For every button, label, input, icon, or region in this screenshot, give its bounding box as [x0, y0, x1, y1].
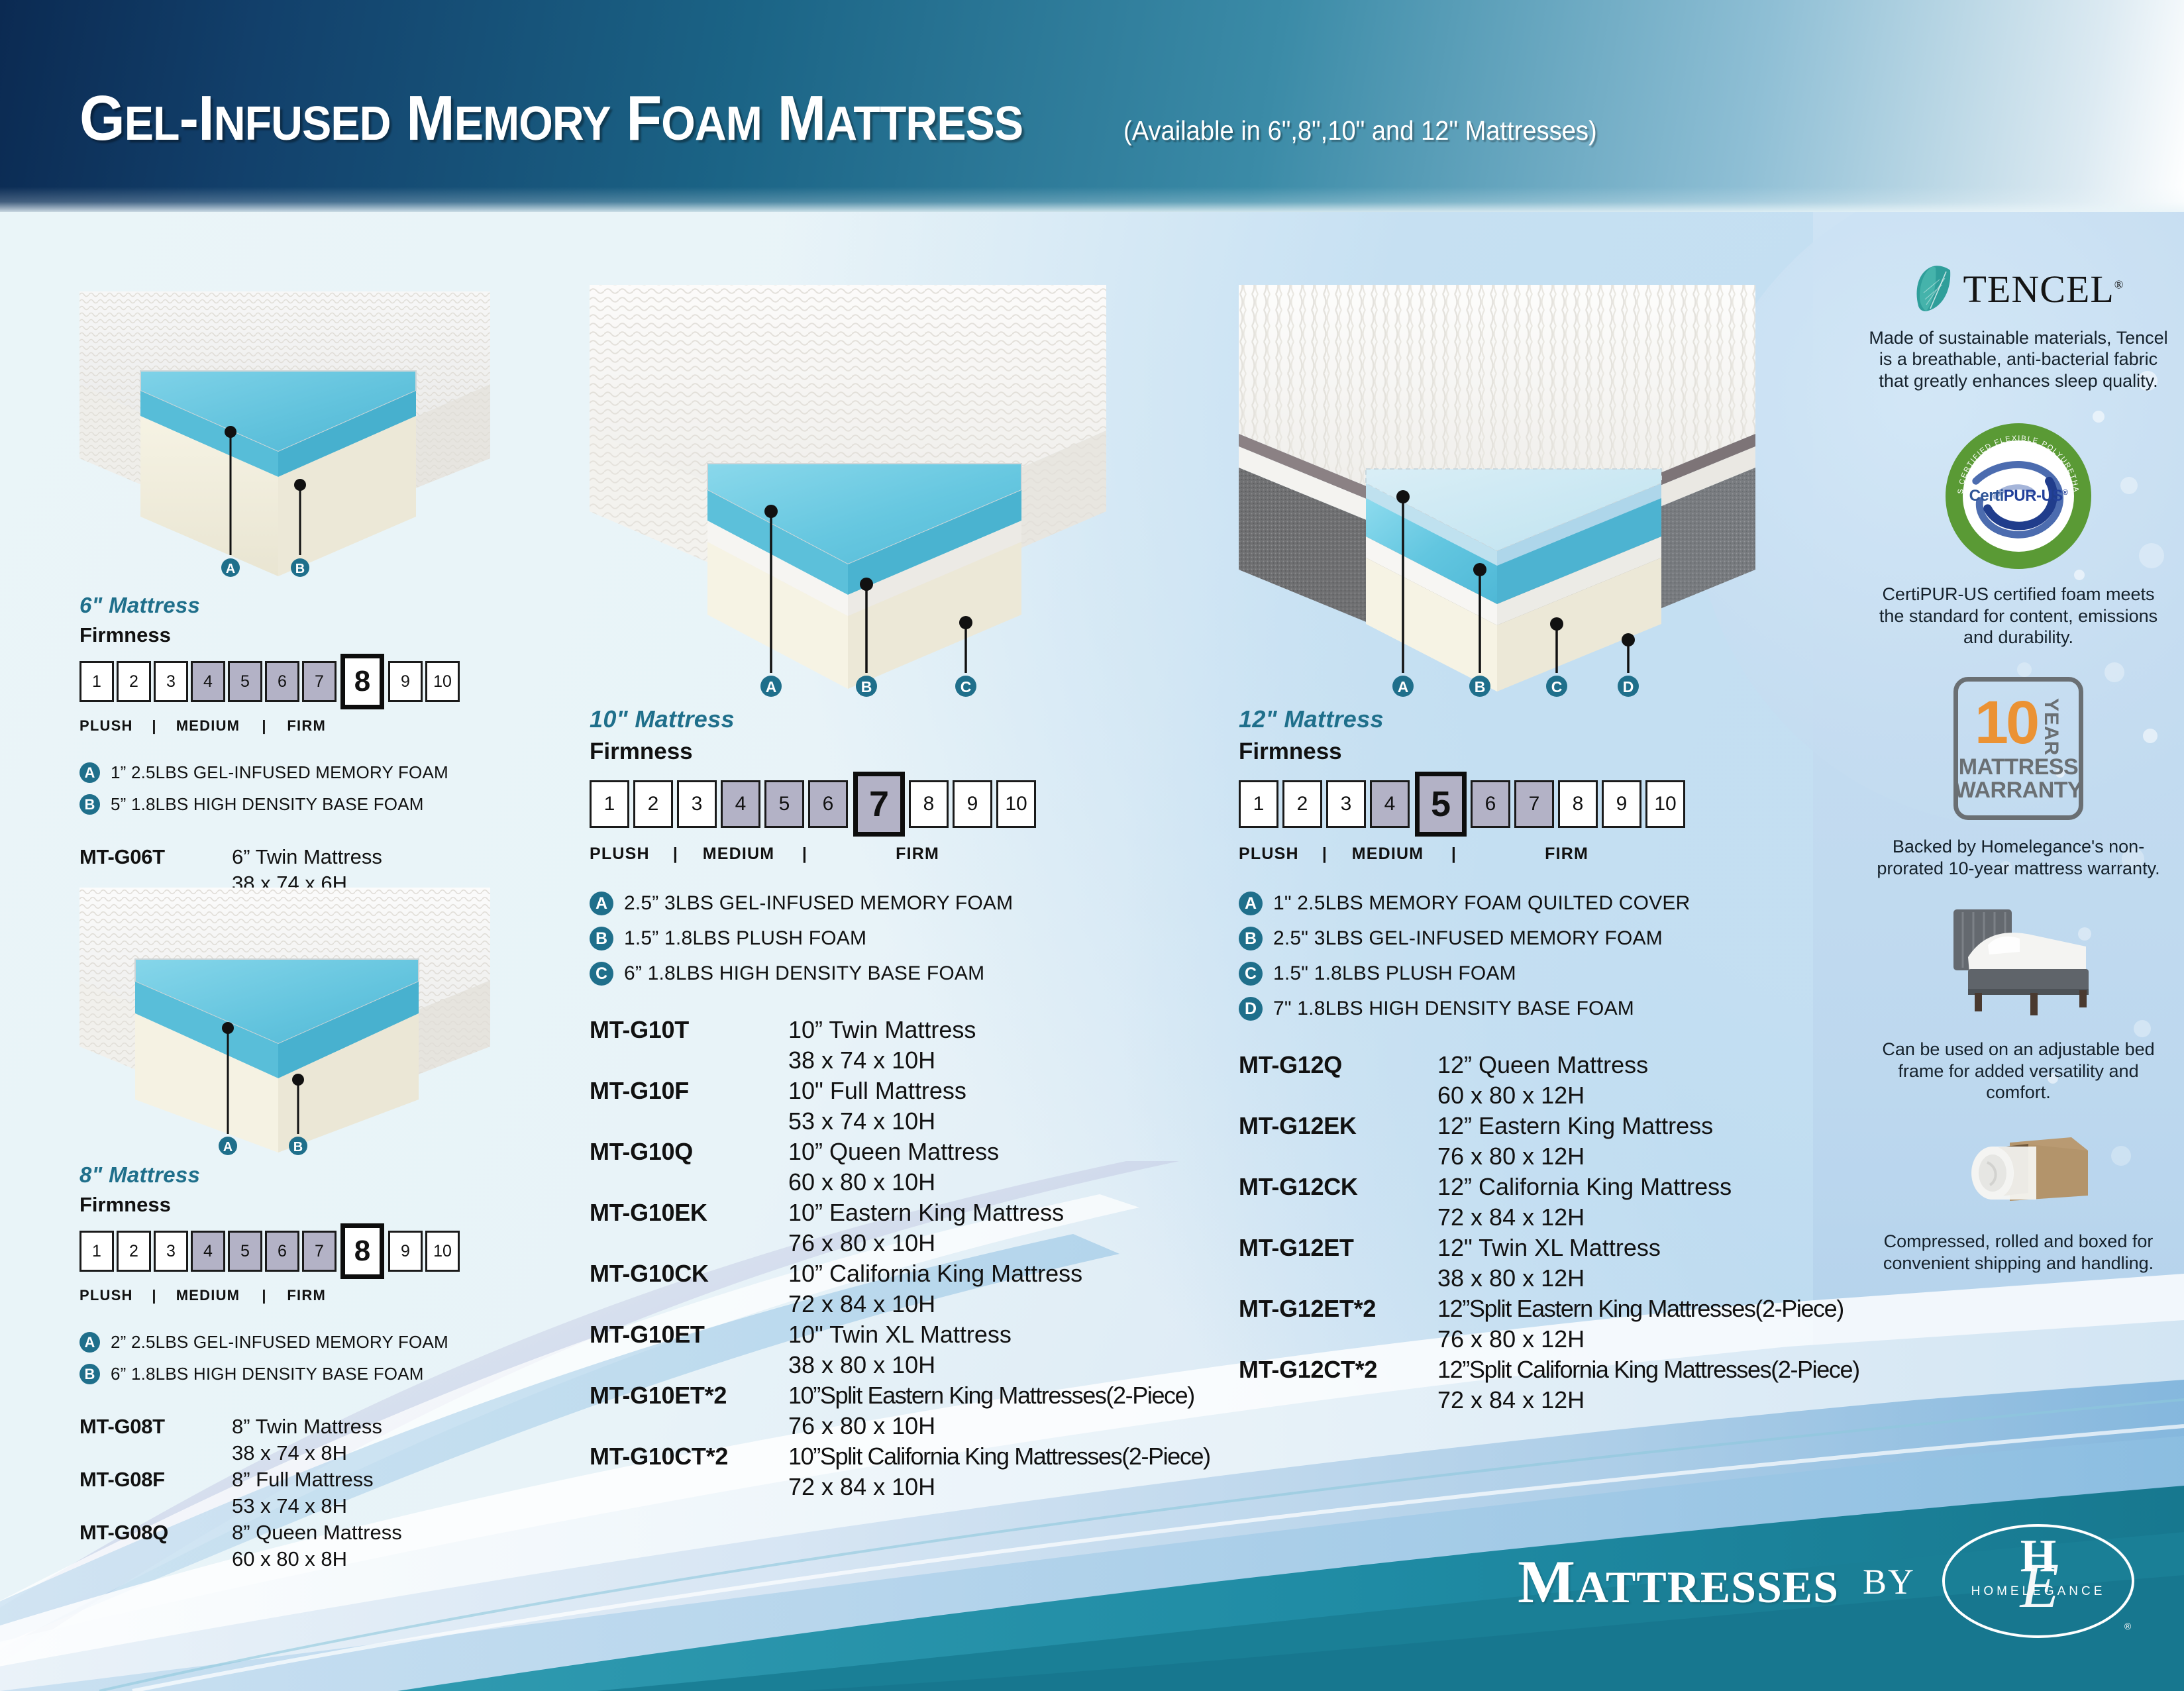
firmness-box-3[interactable]: 3 [154, 1231, 188, 1272]
layer-row: D7" 1.8LBS HIGH DENSITY BASE FOAM [1239, 997, 1875, 1021]
firmness-box-2[interactable]: 2 [117, 1231, 151, 1272]
product-dimensions-row: 72 x 84 x 12H [1239, 1204, 1875, 1231]
ruler-firm-10: FIRM [831, 845, 939, 864]
firmness-box-6[interactable]: 6 [265, 661, 299, 702]
product-dimensions: 38 x 80 x 12H [1437, 1264, 1585, 1292]
product-row: MT-G12ET12" Twin XL Mattress [1239, 1234, 1875, 1262]
svg-text:B: B [1475, 678, 1486, 695]
product-description: 10" Full Mattress [788, 1077, 966, 1105]
ruler-plush-6: PLUSH [79, 717, 135, 735]
product-list-8: MT-G08T8” Twin Mattress38 x 74 x 8HMT-G0… [79, 1415, 543, 1571]
product-description: 12” Eastern King Mattress [1437, 1112, 1713, 1140]
layer-description: 2” 2.5LBS GEL-INFUSED MEMORY FOAM [111, 1332, 448, 1353]
firmness-heading-10: Firmness [590, 739, 1225, 765]
section-label-6: 6" Mattress [79, 593, 543, 618]
product-dimensions: 76 x 80 x 10H [788, 1412, 935, 1440]
spacer [590, 1107, 788, 1135]
column-10-inch: A B C 10" Mattress Firmness 12345678910 … [590, 278, 1225, 1504]
layer-badge-a: A [1239, 892, 1263, 915]
product-sku: MT-G08Q [79, 1521, 232, 1545]
product-row: MT-G10CK10” California King Mattress [590, 1260, 1225, 1288]
adjustable-bed-block: Can be used on an adjustable bed frame f… [1869, 901, 2168, 1103]
section-label-8: 8" Mattress [79, 1162, 543, 1188]
firmness-ruler-6: PLUSH | MEDIUM | FIRM [79, 717, 543, 735]
product-description: 10” Eastern King Mattress [788, 1199, 1064, 1227]
firmness-scale-10[interactable]: 12345678910 [590, 772, 1225, 837]
callout-A: A [219, 1137, 237, 1155]
firmness-box-8[interactable]: 8 [340, 1223, 384, 1279]
layer-description: 2.5" 3LBS GEL-INFUSED MEMORY FOAM [1273, 927, 1663, 950]
product-sku: MT-G08T [79, 1415, 232, 1439]
svg-text:D: D [1623, 678, 1634, 695]
product-sku: MT-G12CT*2 [1239, 1356, 1437, 1384]
ruler-medium-10: MEDIUM [698, 845, 779, 864]
product-row: MT-G12ET*212”Split Eastern King Mattress… [1239, 1295, 1875, 1323]
firmness-ruler-8: PLUSH | MEDIUM | FIRM [79, 1287, 543, 1304]
layer-badge-c: C [590, 962, 613, 986]
spacer [79, 1494, 232, 1518]
svg-text:A: A [226, 562, 235, 576]
product-dimensions: 60 x 80 x 8H [232, 1547, 347, 1571]
product-dimensions: 72 x 84 x 12H [1437, 1386, 1585, 1414]
footer-logo: MATTRESSES BY H E HOMELEGANCE ® [1518, 1523, 2138, 1639]
product-sku: MT-G12ET*2 [1239, 1295, 1437, 1323]
spacer [79, 1441, 232, 1465]
layer-row: B1.5” 1.8LBS PLUSH FOAM [590, 927, 1225, 950]
product-dimensions: 53 x 74 x 8H [232, 1494, 347, 1518]
product-description: 10”Split Eastern King Mattresses(2-Piece… [788, 1382, 1194, 1409]
product-dimensions-row: 76 x 80 x 12H [1239, 1143, 1875, 1170]
registered-mark: ® [2114, 278, 2124, 291]
logo-wordmark: HOMELEGANCE [1971, 1584, 2106, 1598]
layer-row: B2.5" 3LBS GEL-INFUSED MEMORY FOAM [1239, 927, 1875, 950]
firmness-box-1[interactable]: 1 [590, 780, 629, 828]
product-dimensions: 60 x 80 x 10H [788, 1168, 935, 1196]
ruler-plush-12: PLUSH [1239, 845, 1302, 864]
product-dimensions-row: 53 x 74 x 8H [79, 1494, 543, 1518]
product-row: MT-G12EK12” Eastern King Mattress [1239, 1112, 1875, 1140]
layer-badge-c: C [1239, 962, 1263, 986]
product-dimensions-row: 76 x 80 x 10H [590, 1412, 1225, 1440]
warranty-line-1: MATTRESS [1959, 756, 2078, 779]
layer-badge-b: B [79, 794, 100, 815]
ruler-medium-12: MEDIUM [1347, 845, 1428, 864]
product-list-10: MT-G10T10” Twin Mattress38 x 74 x 10HMT-… [590, 1016, 1225, 1501]
product-dimensions: 72 x 84 x 10H [788, 1473, 935, 1501]
product-description: 12” Queen Mattress [1437, 1051, 1648, 1079]
ruler-firm-8: FIRM [286, 1287, 326, 1304]
product-dimensions-row: 38 x 74 x 10H [590, 1047, 1225, 1074]
product-description: 8” Queen Mattress [232, 1521, 402, 1545]
firmness-heading-12: Firmness [1239, 739, 1875, 765]
layer-description: 5” 1.8LBS HIGH DENSITY BASE FOAM [111, 794, 424, 815]
product-sku: MT-G10T [590, 1016, 788, 1044]
layer-description: 6” 1.8LBS HIGH DENSITY BASE FOAM [111, 1364, 424, 1384]
firmness-box-8[interactable]: 8 [340, 654, 384, 709]
product-sku: MT-G10F [590, 1077, 788, 1105]
product-row: MT-G12CT*212”Split California King Mattr… [1239, 1356, 1875, 1384]
warranty-years: 10 [1975, 695, 2037, 750]
callout-A: A [1392, 676, 1414, 697]
product-description: 8” Twin Mattress [232, 1415, 382, 1439]
firmness-box-5[interactable]: 5 [764, 780, 804, 828]
product-dimensions-row: 76 x 80 x 10H [590, 1229, 1225, 1257]
callout-D: D [1618, 676, 1639, 697]
layer-badge-b: B [79, 1364, 100, 1384]
firmness-box-7[interactable]: 7 [853, 772, 905, 837]
layer-row: C6” 1.8LBS HIGH DENSITY BASE FOAM [590, 962, 1225, 986]
svg-text:A: A [1398, 678, 1409, 695]
product-description: 10”Split California King Mattresses(2-Pi… [788, 1443, 1210, 1470]
spacer [590, 1351, 788, 1379]
product-sku: MT-G10ET [590, 1321, 788, 1349]
firmness-box-5[interactable]: 5 [1415, 772, 1467, 837]
spacer [590, 1229, 788, 1257]
product-row: MT-G10Q10” Queen Mattress [590, 1138, 1225, 1166]
product-dimensions-row: 72 x 84 x 10H [590, 1290, 1225, 1318]
mattress-12-cutaway-image: A B C D [1239, 278, 1755, 702]
spacer [1239, 1143, 1437, 1170]
product-sku: MT-G10Q [590, 1138, 788, 1166]
product-row: MT-G10T10” Twin Mattress [590, 1016, 1225, 1044]
firmness-box-5[interactable]: 5 [228, 661, 262, 702]
product-description: 12”Split California King Mattresses(2-Pi… [1437, 1356, 1859, 1384]
warranty-block: 10 YEAR MATTRESS WARRANTY Backed by Home… [1869, 670, 2168, 879]
warranty-year-word: YEAR [2040, 698, 2062, 756]
product-description: 6” Twin Mattress [232, 845, 382, 869]
adjustable-bed-caption: Can be used on an adjustable bed frame f… [1869, 1039, 2168, 1103]
spacer [590, 1473, 788, 1501]
spacer [590, 1047, 788, 1074]
product-sku: MT-G10ET*2 [590, 1382, 788, 1409]
product-sku: MT-G06T [79, 845, 232, 869]
firmness-box-2[interactable]: 2 [1282, 780, 1322, 828]
layer-legend-8: A2” 2.5LBS GEL-INFUSED MEMORY FOAMB6” 1.… [79, 1332, 543, 1384]
ruler-plush-8: PLUSH [79, 1287, 135, 1304]
firmness-ruler-10: PLUSH | MEDIUM | FIRM [590, 845, 1225, 864]
layer-description: 6” 1.8LBS HIGH DENSITY BASE FOAM [624, 962, 984, 985]
product-description: 10" Twin XL Mattress [788, 1321, 1012, 1349]
callout-B: B [856, 676, 877, 697]
firmness-box-4[interactable]: 4 [191, 1231, 225, 1272]
product-dimensions: 76 x 80 x 12H [1437, 1325, 1585, 1353]
firmness-box-9[interactable]: 9 [388, 1231, 423, 1272]
firmness-box-3[interactable]: 3 [1326, 780, 1366, 828]
firmness-box-2[interactable]: 2 [633, 780, 673, 828]
firmness-box-4[interactable]: 4 [191, 661, 225, 702]
layer-row: C1.5" 1.8LBS PLUSH FOAM [1239, 962, 1875, 986]
boxed-caption: Compressed, rolled and boxed for conveni… [1869, 1231, 2168, 1274]
product-sku: MT-G12EK [1239, 1112, 1437, 1140]
product-sku: MT-G12Q [1239, 1051, 1437, 1079]
firmness-box-10[interactable]: 10 [1645, 780, 1685, 828]
firmness-box-10[interactable]: 10 [996, 780, 1036, 828]
firmness-box-10[interactable]: 10 [425, 1231, 460, 1272]
spacer [1239, 1386, 1437, 1414]
adjustable-bed-icon [1919, 905, 2118, 1025]
certipur-registered: ® [2063, 489, 2068, 497]
firmness-box-8[interactable]: 8 [1558, 780, 1598, 828]
firmness-box-10[interactable]: 10 [425, 661, 460, 702]
column-8-inch: A B 8" Mattress Firmness 12345678910 PLU… [79, 881, 543, 1574]
product-description: 10” Queen Mattress [788, 1138, 999, 1166]
firmness-box-7[interactable]: 7 [302, 1231, 337, 1272]
firmness-box-4[interactable]: 4 [721, 780, 760, 828]
page-subtitle: (Available in 6",8",10" and 12" Mattress… [1123, 115, 1597, 146]
product-dimensions-row: 72 x 84 x 10H [590, 1473, 1225, 1501]
firmness-scale-6[interactable]: 12345678910 [79, 654, 543, 709]
callout-B: B [291, 558, 309, 577]
product-row: MT-G08T8” Twin Mattress [79, 1415, 543, 1439]
layer-badge-d: D [1239, 997, 1263, 1021]
product-dimensions: 38 x 74 x 8H [232, 1441, 347, 1465]
product-description: 12" Twin XL Mattress [1437, 1234, 1661, 1262]
tencel-block: TENCEL® Made of sustainable materials, T… [1869, 265, 2168, 391]
product-dimensions: 38 x 74 x 10H [788, 1047, 935, 1074]
product-dimensions: 72 x 84 x 12H [1437, 1204, 1585, 1231]
layer-row: A1" 2.5LBS MEMORY FOAM QUILTED COVER [1239, 892, 1875, 915]
firmness-box-2[interactable]: 2 [117, 661, 151, 702]
product-dimensions-row: 60 x 80 x 12H [1239, 1082, 1875, 1109]
layer-legend-10: A2.5” 3LBS GEL-INFUSED MEMORY FOAMB1.5” … [590, 892, 1225, 986]
tencel-caption: Made of sustainable materials, Tencel is… [1869, 327, 2168, 391]
firmness-box-6[interactable]: 6 [1471, 780, 1510, 828]
product-description: 10” Twin Mattress [788, 1016, 976, 1044]
product-dimensions-row: 60 x 80 x 8H [79, 1547, 543, 1571]
product-dimensions: 76 x 80 x 12H [1437, 1143, 1585, 1170]
layer-row: A2” 2.5LBS GEL-INFUSED MEMORY FOAM [79, 1332, 543, 1353]
callout-B: B [1469, 676, 1490, 697]
firmness-heading-8: Firmness [79, 1193, 543, 1217]
mattress-8-cutaway-image: A B [79, 881, 490, 1159]
product-description: 8” Full Mattress [232, 1468, 374, 1492]
firmness-box-9[interactable]: 9 [1602, 780, 1641, 828]
firmness-scale-12[interactable]: 12345678910 [1239, 772, 1875, 837]
svg-text:A: A [223, 1140, 233, 1154]
firmness-scale-8[interactable]: 12345678910 [79, 1223, 543, 1279]
firmness-box-8[interactable]: 8 [909, 780, 949, 828]
product-row: MT-G06T6” Twin Mattress [79, 845, 543, 869]
product-dimensions-row: 76 x 80 x 12H [1239, 1325, 1875, 1353]
product-description: 12”Split Eastern King Mattresses(2-Piece… [1437, 1295, 1844, 1323]
firmness-box-1[interactable]: 1 [79, 1231, 114, 1272]
product-dimensions-row: 53 x 74 x 10H [590, 1107, 1225, 1135]
product-row: MT-G12CK12” California King Mattress [1239, 1173, 1875, 1201]
layer-badge-a: A [79, 762, 100, 783]
ruler-firm-6: FIRM [286, 717, 326, 735]
product-sku: MT-G12CK [1239, 1173, 1437, 1201]
firmness-box-3[interactable]: 3 [154, 661, 188, 702]
layer-badge-b: B [590, 927, 613, 950]
layer-badge-b: B [1239, 927, 1263, 950]
firmness-box-9[interactable]: 9 [388, 661, 423, 702]
product-sku: MT-G12ET [1239, 1234, 1437, 1262]
product-row: MT-G10F10" Full Mattress [590, 1077, 1225, 1105]
firmness-heading-6: Firmness [79, 623, 543, 647]
layer-description: 1" 2.5LBS MEMORY FOAM QUILTED COVER [1273, 892, 1690, 915]
callout-A: A [221, 558, 240, 577]
firmness-box-4[interactable]: 4 [1370, 780, 1410, 828]
product-row: MT-G08Q8” Queen Mattress [79, 1521, 543, 1545]
layer-badge-a: A [590, 892, 613, 915]
warranty-line-2: WARRANTY [1955, 779, 2082, 802]
layer-description: 1.5” 1.8LBS PLUSH FOAM [624, 927, 866, 950]
ruler-medium-8: MEDIUM [174, 1287, 242, 1304]
spacer [590, 1412, 788, 1440]
svg-text:C: C [961, 678, 972, 695]
ruler-medium-6: MEDIUM [174, 717, 242, 735]
section-label-12: 12" Mattress [1239, 705, 1875, 733]
product-dimensions: 72 x 84 x 10H [788, 1290, 935, 1318]
layer-legend-12: A1" 2.5LBS MEMORY FOAM QUILTED COVERB2.5… [1239, 892, 1875, 1021]
spacer [1239, 1264, 1437, 1292]
product-row: MT-G10ET10" Twin XL Mattress [590, 1321, 1225, 1349]
footer-by-word: BY [1863, 1561, 1915, 1602]
boxed-block: Compressed, rolled and boxed for conveni… [1869, 1125, 2168, 1274]
certipur-block: CONTAINS CERTIFIED FLEXIBLE POLYURETHANE… [1869, 414, 2168, 648]
firmness-box-7[interactable]: 7 [302, 661, 337, 702]
product-sku: MT-G08F [79, 1468, 232, 1492]
poster-canvas: GEL-INFUSED MEMORY FOAM MATTRESS (Availa… [0, 0, 2184, 1691]
mattress-6-cutaway-image: A B [79, 278, 490, 589]
product-row: MT-G12Q12” Queen Mattress [1239, 1051, 1875, 1079]
svg-text:B: B [293, 1140, 303, 1154]
callout-B: B [289, 1137, 307, 1155]
callout-A: A [760, 676, 782, 697]
svg-text:A: A [766, 678, 777, 695]
column-12-inch: A B C D 12" Mattress Firmness 1234567891… [1239, 278, 1875, 1417]
features-sidebar: TENCEL® Made of sustainable materials, T… [1853, 265, 2184, 1296]
firmness-box-6[interactable]: 6 [808, 780, 848, 828]
spacer [1239, 1082, 1437, 1109]
product-list-12: MT-G12Q12” Queen Mattress60 x 80 x 12HMT… [1239, 1051, 1875, 1414]
product-row: MT-G10CT*210”Split California King Mattr… [590, 1443, 1225, 1470]
svg-text:B: B [295, 562, 305, 576]
firmness-box-5[interactable]: 5 [228, 1231, 262, 1272]
spacer [590, 1290, 788, 1318]
page-title: GEL-INFUSED MEMORY FOAM MATTRESS [79, 82, 1023, 155]
warranty-badge-icon: 10 YEAR MATTRESS WARRANTY [1953, 677, 2083, 820]
spacer [590, 1168, 788, 1196]
layer-description: 1” 2.5LBS GEL-INFUSED MEMORY FOAM [111, 762, 448, 783]
product-description: 10” California King Mattress [788, 1260, 1082, 1288]
tencel-wordmark: TENCEL® [1963, 267, 2124, 311]
layer-row: A1” 2.5LBS GEL-INFUSED MEMORY FOAM [79, 762, 543, 783]
product-description: 12” California King Mattress [1437, 1173, 1732, 1201]
product-dimensions-row: 60 x 80 x 10H [590, 1168, 1225, 1196]
product-dimensions-row: 38 x 74 x 8H [79, 1441, 543, 1465]
logo-registered: ® [2124, 1621, 2132, 1631]
spacer [1239, 1204, 1437, 1231]
warranty-caption: Backed by Homelegance's non-prorated 10-… [1869, 836, 2168, 879]
certipur-caption: CertiPUR-US certified foam meets the sta… [1869, 584, 2168, 648]
layer-row: B6” 1.8LBS HIGH DENSITY BASE FOAM [79, 1364, 543, 1384]
layer-description: 1.5" 1.8LBS PLUSH FOAM [1273, 962, 1516, 985]
ruler-plush-10: PLUSH [590, 845, 653, 864]
product-dimensions: 53 x 74 x 10H [788, 1107, 935, 1135]
spacer [1239, 1325, 1437, 1353]
firmness-box-6[interactable]: 6 [265, 1231, 299, 1272]
layer-legend-6: A1” 2.5LBS GEL-INFUSED MEMORY FOAMB5” 1.… [79, 762, 543, 815]
mattress-10-cutaway-image: A B C [590, 278, 1106, 702]
firmness-box-9[interactable]: 9 [953, 780, 992, 828]
product-dimensions: 60 x 80 x 12H [1437, 1082, 1585, 1109]
product-dimensions-row: 38 x 80 x 12H [1239, 1264, 1875, 1292]
ruler-firm-12: FIRM [1480, 845, 1588, 864]
homelegance-logo-icon: H E HOMELEGANCE ® [1939, 1523, 2138, 1639]
product-sku: MT-G10CK [590, 1260, 788, 1288]
leaf-icon [1913, 265, 1954, 313]
product-dimensions: 76 x 80 x 10H [788, 1229, 935, 1257]
spacer [79, 1547, 232, 1571]
product-dimensions-row: 72 x 84 x 12H [1239, 1386, 1875, 1414]
column-6-inch: A B 6" Mattress Firmness 12345678910 PLU… [79, 278, 543, 951]
svg-text:B: B [861, 678, 872, 695]
firmness-box-7[interactable]: 7 [1514, 780, 1554, 828]
layer-row: A2.5” 3LBS GEL-INFUSED MEMORY FOAM [590, 892, 1225, 915]
footer-mattresses-word: MATTRESSES [1518, 1547, 1839, 1617]
certipur-seal-icon: CONTAINS CERTIFIED FLEXIBLE POLYURETHANE… [1946, 423, 2091, 569]
firmness-ruler-12: PLUSH | MEDIUM | FIRM [1239, 845, 1875, 864]
layer-description: 7" 1.8LBS HIGH DENSITY BASE FOAM [1273, 998, 1634, 1020]
section-label-10: 10" Mattress [590, 705, 1225, 733]
certipur-mark-certi: Certi [1969, 487, 2004, 505]
layer-description: 2.5” 3LBS GEL-INFUSED MEMORY FOAM [624, 892, 1013, 915]
product-row: MT-G08F8” Full Mattress [79, 1468, 543, 1492]
product-dimensions: 38 x 80 x 10H [788, 1351, 935, 1379]
product-row: MT-G10EK10” Eastern King Mattress [590, 1199, 1225, 1227]
rolled-mattress-box-icon [1936, 1132, 2101, 1218]
product-sku: MT-G10CT*2 [590, 1443, 788, 1470]
product-dimensions-row: 38 x 80 x 10H [590, 1351, 1225, 1379]
layer-badge-a: A [79, 1332, 100, 1353]
certipur-mark-pur: PUR-US [2004, 487, 2063, 505]
product-row: MT-G10ET*210”Split Eastern King Mattress… [590, 1382, 1225, 1409]
firmness-box-1[interactable]: 1 [1239, 780, 1278, 828]
callout-C: C [1546, 676, 1567, 697]
svg-text:C: C [1551, 678, 1563, 695]
layer-row: B5” 1.8LBS HIGH DENSITY BASE FOAM [79, 794, 543, 815]
page-header: GEL-INFUSED MEMORY FOAM MATTRESS (Availa… [0, 0, 2184, 212]
callout-C: C [955, 676, 976, 697]
firmness-box-3[interactable]: 3 [677, 780, 717, 828]
product-sku: MT-G10EK [590, 1199, 788, 1227]
firmness-box-1[interactable]: 1 [79, 661, 114, 702]
